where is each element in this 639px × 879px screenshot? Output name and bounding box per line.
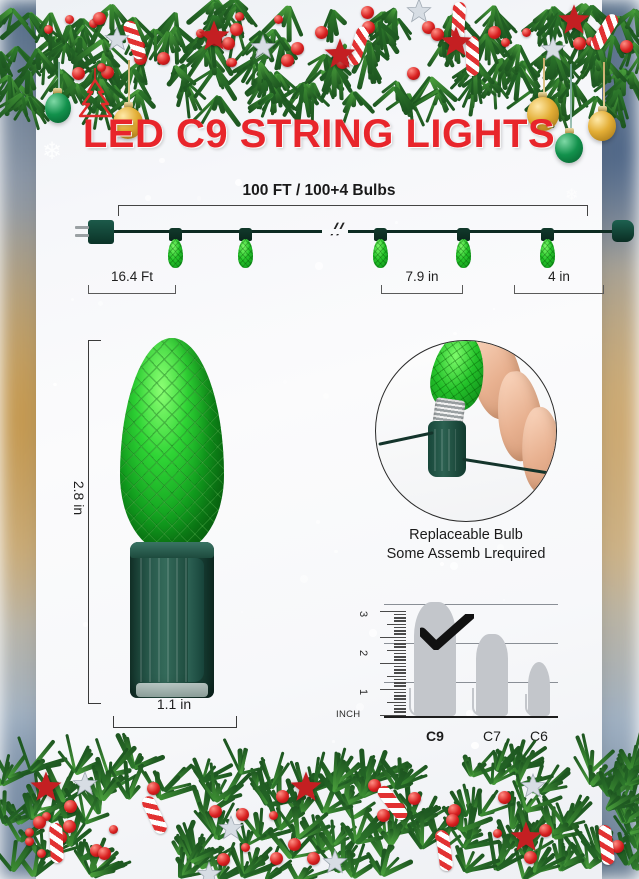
snow-dot [73, 90, 76, 93]
ruler-tick [380, 611, 406, 612]
ruler-unit-label: INCH [336, 709, 360, 720]
height-label: 2.8 in [71, 481, 87, 515]
snow-dot [283, 380, 287, 384]
bulb-silhouette-c6 [528, 662, 550, 716]
male-plug-icon [88, 220, 114, 244]
ruler-tick [387, 650, 406, 651]
comparison-label-c6: C6 [526, 728, 552, 744]
ruler-mark-3: 3 [357, 611, 369, 617]
ruler-tick [394, 630, 406, 631]
comparison-label-c7: C7 [476, 728, 508, 744]
bulb-icon [456, 228, 471, 268]
chart-baseline [384, 716, 558, 718]
ruler-tick [394, 640, 406, 641]
snow-dot [576, 810, 581, 815]
bulb-silhouette-c7 [476, 634, 508, 716]
socket-rim [130, 542, 214, 558]
replaceable-bulb-inset: Replaceable Bulb Some Assemb Lrequired [375, 340, 557, 522]
ruler-tick [380, 715, 406, 716]
dimension-bulb-spacing: 7.9 in [381, 278, 463, 294]
string-length-diagram: 100 FT / 100+4 Bulbs // 16.4 Ft 7.9 in 4… [36, 182, 602, 302]
ruler-mark-2: 2 [357, 650, 369, 656]
snow-dot [389, 792, 396, 799]
ruler-tick [394, 653, 406, 654]
ruler-tick [380, 663, 406, 664]
socket-ribs [140, 556, 190, 682]
product-infographic: ❄ ❄ LED C9 STRING LIGHTS 100 FT / 100+4 … [0, 0, 639, 879]
snow-dot [334, 550, 337, 553]
dimension-label: 16.4 Ft [88, 269, 176, 284]
snow-dot [316, 520, 319, 523]
inch-ruler [380, 612, 406, 716]
socket-inset [428, 421, 466, 477]
width-dimension-bracket [113, 716, 237, 728]
ruler-tick [394, 705, 406, 706]
total-length-label: 100 FT / 100+4 Bulbs [36, 182, 602, 200]
bulb-icon [238, 228, 253, 268]
ruler-tick [394, 698, 406, 699]
ruler-tick [394, 659, 406, 660]
bulb-socket-base [130, 542, 214, 698]
ruler-tick [394, 682, 406, 683]
ruler-tick [394, 620, 406, 621]
ruler-tick [394, 679, 406, 680]
ruler-tick [394, 633, 406, 634]
inset-circle [375, 340, 557, 522]
ruler-tick [380, 689, 406, 690]
ruler-tick [387, 676, 406, 677]
snow-dot [557, 425, 560, 428]
ruler-tick [394, 669, 406, 670]
bulb-icon [540, 228, 555, 268]
ruler-tick [394, 672, 406, 673]
dimension-label: 7.9 in [381, 269, 463, 284]
inset-caption-line2: Some Assemb Lrequired [375, 545, 557, 564]
socket-clip [188, 558, 204, 682]
ruler-tick [394, 708, 406, 709]
check-icon [420, 614, 474, 655]
snow-dot [332, 740, 335, 743]
snow-dot [493, 308, 495, 310]
socket-bottom [136, 683, 208, 697]
ruler-tick [394, 711, 406, 712]
gridline [384, 604, 558, 605]
bulb-product-photo [112, 338, 232, 708]
ruler-tick [394, 614, 406, 615]
ruler-tick [394, 627, 406, 628]
ruler-tick [380, 637, 406, 638]
snow-dot [159, 158, 165, 164]
inset-caption-line1: Replaceable Bulb [375, 526, 557, 545]
ruler-tick [394, 685, 406, 686]
total-length-dimension-bracket [118, 205, 588, 216]
page-title: LED C9 STRING LIGHTS [36, 112, 602, 157]
ruler-mark-1: 1 [357, 689, 369, 695]
snow-dot [53, 383, 56, 386]
wire-left [378, 431, 433, 446]
ruler-tick [394, 656, 406, 657]
ruler-tick [394, 643, 406, 644]
ruler-tick [387, 702, 406, 703]
height-dimension-bracket [88, 340, 101, 704]
dimension-label: 4 in [514, 269, 604, 284]
comparison-label-c9: C9 [414, 728, 456, 744]
dimension-lead-length: 16.4 Ft [88, 278, 176, 294]
ruler-tick [387, 624, 406, 625]
end-connector-icon [612, 220, 634, 242]
inset-caption: Replaceable Bulb Some Assemb Lrequired [375, 526, 557, 564]
ruler-tick [394, 617, 406, 618]
dimension-tail-length: 4 in [514, 278, 604, 294]
ruler-tick [394, 646, 406, 647]
snow-dot [83, 622, 88, 627]
bulb-icon [168, 228, 183, 268]
bulb-facet-highlight [120, 338, 224, 552]
snow-dot [323, 393, 329, 399]
ruler-tick [394, 695, 406, 696]
bulb-glass [120, 338, 224, 552]
ruler-tick [394, 666, 406, 667]
width-label: 1.1 in [113, 696, 235, 712]
size-comparison-chart: 3 2 1 INCH C9 C7 C6 [336, 596, 558, 746]
bulb-icon [373, 228, 388, 268]
ruler-tick [394, 692, 406, 693]
